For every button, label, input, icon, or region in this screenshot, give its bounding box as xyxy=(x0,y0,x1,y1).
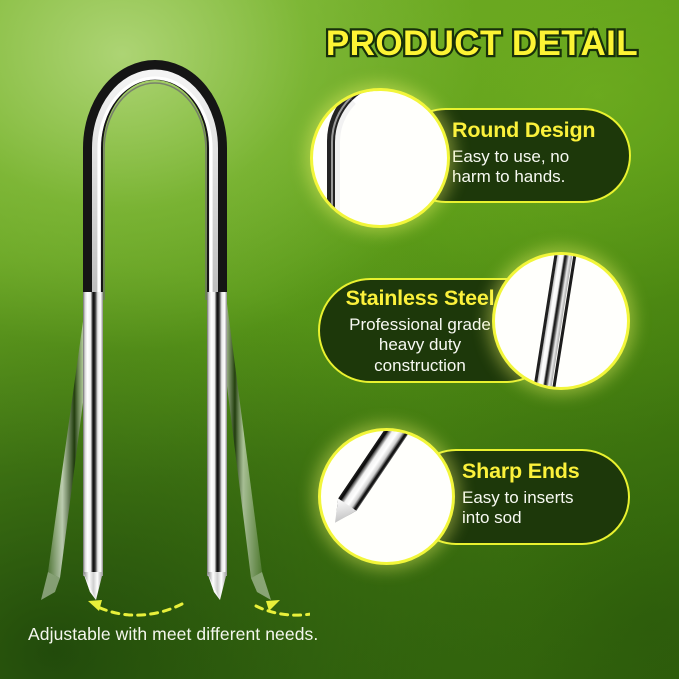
product-detail-image: Adjustable with meet different needs. PR… xyxy=(0,0,679,679)
staple-ghost-legs xyxy=(41,250,271,600)
feature-body: Easy to use, no harm to hands. xyxy=(452,147,628,188)
page-title: PRODUCT DETAIL xyxy=(296,24,668,64)
staple-legs xyxy=(83,292,227,576)
adjust-arrow-left xyxy=(88,600,182,615)
feature-heading: Sharp Ends xyxy=(462,459,628,484)
feature-photo-round-bend xyxy=(310,88,450,228)
adjust-arrow-right xyxy=(256,600,310,615)
feature-photo-steel-shaft xyxy=(492,252,630,390)
staple-sharp-tips xyxy=(83,572,227,600)
feature-text-round-design: Round Design Easy to use, no harm to han… xyxy=(452,118,628,188)
feature-heading: Stainless Steel xyxy=(330,286,510,311)
feature-heading: Round Design xyxy=(452,118,628,143)
product-staple-illustration xyxy=(0,0,310,620)
feature-text-stainless-steel: Stainless Steel Professional grade heavy… xyxy=(330,286,510,377)
chrome-bend-highlight xyxy=(335,88,450,228)
sharp-tip-svg xyxy=(321,431,455,565)
staple-svg xyxy=(0,0,310,620)
staple-round-bend xyxy=(93,70,217,300)
feature-body: Easy to inserts into sod xyxy=(462,488,628,529)
feature-body: Professional grade heavy duty constructi… xyxy=(330,315,510,377)
feature-photo-sharp-tip xyxy=(318,428,455,565)
product-caption: Adjustable with meet different needs. xyxy=(28,624,318,645)
feature-text-sharp-ends: Sharp Ends Easy to inserts into sod xyxy=(462,459,628,529)
